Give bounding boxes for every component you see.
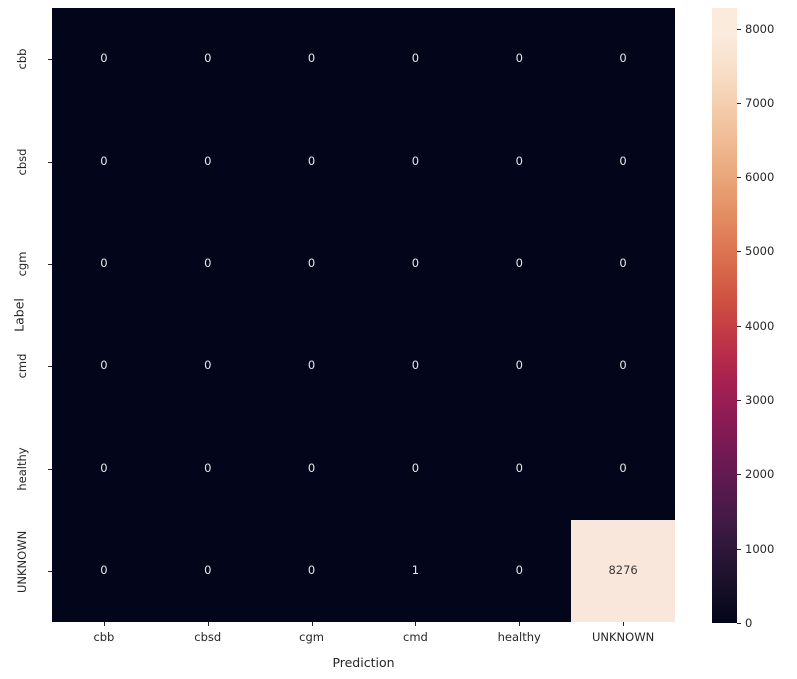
y-tick-label: healthy — [15, 447, 29, 491]
heatmap-cell-value: 0 — [412, 360, 419, 372]
colorbar-tick-mark — [737, 549, 741, 550]
heatmap-cell: 0 — [156, 417, 260, 519]
colorbar-tick-label: 6000 — [745, 170, 774, 184]
heatmap-cell-value: 0 — [619, 360, 626, 372]
heatmap-cell-value: 0 — [516, 258, 523, 270]
heatmap-cell-value: 0 — [204, 360, 211, 372]
heatmap-cell: 0 — [260, 315, 364, 417]
y-tick-mark — [48, 469, 52, 470]
heatmap-cell-value: 1 — [412, 565, 419, 577]
y-tick-mark — [48, 366, 52, 367]
colorbar-gradient — [712, 8, 737, 623]
heatmap-cell: 0 — [260, 417, 364, 519]
heatmap-cell: 0 — [571, 417, 675, 519]
heatmap-cell: 0 — [52, 417, 156, 519]
heatmap-cell: 8276 — [571, 520, 675, 622]
colorbar-tick-mark — [737, 400, 741, 401]
heatmap-cell: 0 — [52, 520, 156, 622]
heatmap-cell: 0 — [467, 110, 571, 212]
colorbar-tick-mark — [737, 103, 741, 104]
x-tick-mark — [208, 622, 209, 626]
x-tick-mark — [312, 622, 313, 626]
heatmap-cell-value: 0 — [308, 463, 315, 475]
heatmap-cell: 0 — [364, 110, 468, 212]
heatmap-cell-value: 0 — [516, 360, 523, 372]
heatmap-cell-value: 0 — [619, 53, 626, 65]
x-tick-mark — [415, 622, 416, 626]
heatmap-cell: 0 — [156, 520, 260, 622]
heatmap-cell-value: 0 — [516, 53, 523, 65]
heatmap-cell-value: 0 — [100, 463, 107, 475]
heatmap-cell: 0 — [156, 110, 260, 212]
x-tick-label: cmd — [403, 630, 428, 644]
heatmap-cell-value: 0 — [204, 565, 211, 577]
y-tick-label: cbsd — [15, 140, 29, 184]
heatmap-cell: 0 — [467, 213, 571, 315]
heatmap-cell-value: 0 — [100, 258, 107, 270]
colorbar-tick-mark — [737, 251, 741, 252]
x-tick-label: cgm — [299, 630, 324, 644]
x-tick-label: UNKNOWN — [592, 630, 654, 644]
heatmap-cell-value: 0 — [412, 463, 419, 475]
heatmap-cell: 0 — [467, 8, 571, 110]
x-axis-title: Prediction — [52, 655, 675, 670]
heatmap-cell: 0 — [52, 8, 156, 110]
y-tick-label: cmd — [15, 344, 29, 388]
colorbar-tick-label: 0 — [745, 616, 752, 630]
x-tick-label: cbb — [93, 630, 114, 644]
heatmap-cell: 0 — [571, 213, 675, 315]
heatmap-cell-value: 0 — [204, 258, 211, 270]
colorbar-tick-mark — [737, 29, 741, 30]
y-axis-title: Label — [11, 298, 26, 332]
y-tick-mark — [48, 264, 52, 265]
heatmap-cell: 0 — [571, 110, 675, 212]
x-tick-mark — [623, 622, 624, 626]
heatmap-cell: 0 — [364, 213, 468, 315]
heatmap-cell: 0 — [467, 315, 571, 417]
heatmap-cell: 0 — [260, 213, 364, 315]
heatmap-cell: 0 — [52, 110, 156, 212]
heatmap-cell-value: 0 — [308, 360, 315, 372]
y-tick-mark — [48, 59, 52, 60]
colorbar-tick-label: 2000 — [745, 467, 774, 481]
heatmap-cell-value: 0 — [204, 463, 211, 475]
heatmap-cell-value: 0 — [100, 156, 107, 168]
heatmap-grid: 000000000000000000000000000000000108276 — [52, 8, 675, 622]
heatmap-cell-value: 0 — [204, 53, 211, 65]
heatmap-cell: 0 — [364, 315, 468, 417]
colorbar-tick-mark — [737, 326, 741, 327]
x-tick-mark — [519, 622, 520, 626]
heatmap-cell-value: 0 — [516, 156, 523, 168]
heatmap-cell-value: 0 — [619, 463, 626, 475]
heatmap-cell: 1 — [364, 520, 468, 622]
heatmap-cell-value: 0 — [412, 258, 419, 270]
x-tick-label: healthy — [498, 630, 541, 644]
heatmap-cell: 0 — [571, 8, 675, 110]
heatmap-cell: 0 — [156, 213, 260, 315]
colorbar-tick-label: 3000 — [745, 393, 774, 407]
colorbar-tick-mark — [737, 177, 741, 178]
heatmap-cell: 0 — [467, 520, 571, 622]
heatmap-cell-value: 0 — [204, 156, 211, 168]
heatmap-cell: 0 — [52, 213, 156, 315]
heatmap-cell: 0 — [364, 8, 468, 110]
y-tick-mark — [48, 162, 52, 163]
heatmap-cell: 0 — [156, 8, 260, 110]
heatmap-cell-value: 0 — [308, 53, 315, 65]
colorbar-tick-label: 5000 — [745, 244, 774, 258]
y-tick-label: cbb — [15, 37, 29, 81]
heatmap-cell-value: 8276 — [608, 565, 637, 577]
heatmap-cell: 0 — [260, 8, 364, 110]
x-tick-label: cbsd — [194, 630, 221, 644]
heatmap-cell: 0 — [156, 315, 260, 417]
heatmap-cell: 0 — [52, 315, 156, 417]
heatmap-cell-value: 0 — [516, 565, 523, 577]
heatmap-cell-value: 0 — [308, 156, 315, 168]
colorbar-tick-label: 1000 — [745, 542, 774, 556]
heatmap-cell: 0 — [571, 315, 675, 417]
heatmap-cell: 0 — [467, 417, 571, 519]
confusion-matrix-figure: Label 0000000000000000000000000000000001… — [0, 0, 797, 679]
heatmap-cell-value: 0 — [308, 565, 315, 577]
heatmap-cell-value: 0 — [412, 53, 419, 65]
heatmap-cell-value: 0 — [100, 360, 107, 372]
colorbar-tick-mark — [737, 623, 741, 624]
colorbar-tick-label: 8000 — [745, 22, 774, 36]
y-tick-label: UNKNOWN — [15, 549, 29, 593]
heatmap-cell-value: 0 — [412, 156, 419, 168]
heatmap-cell-value: 0 — [308, 258, 315, 270]
heatmap-cell-value: 0 — [100, 565, 107, 577]
colorbar: 010002000300040005000600070008000 — [712, 8, 737, 623]
y-tick-label: cgm — [15, 242, 29, 286]
heatmap-cell: 0 — [364, 417, 468, 519]
heatmap-cell-value: 0 — [100, 53, 107, 65]
heatmap-cell-value: 0 — [619, 258, 626, 270]
colorbar-tick-label: 4000 — [745, 319, 774, 333]
heatmap-cell-value: 0 — [516, 463, 523, 475]
heatmap-cell-value: 0 — [619, 156, 626, 168]
colorbar-tick-label: 7000 — [745, 96, 774, 110]
y-tick-mark — [48, 571, 52, 572]
heatmap-cell: 0 — [260, 520, 364, 622]
colorbar-tick-mark — [737, 474, 741, 475]
x-tick-mark — [104, 622, 105, 626]
heatmap-cell: 0 — [260, 110, 364, 212]
